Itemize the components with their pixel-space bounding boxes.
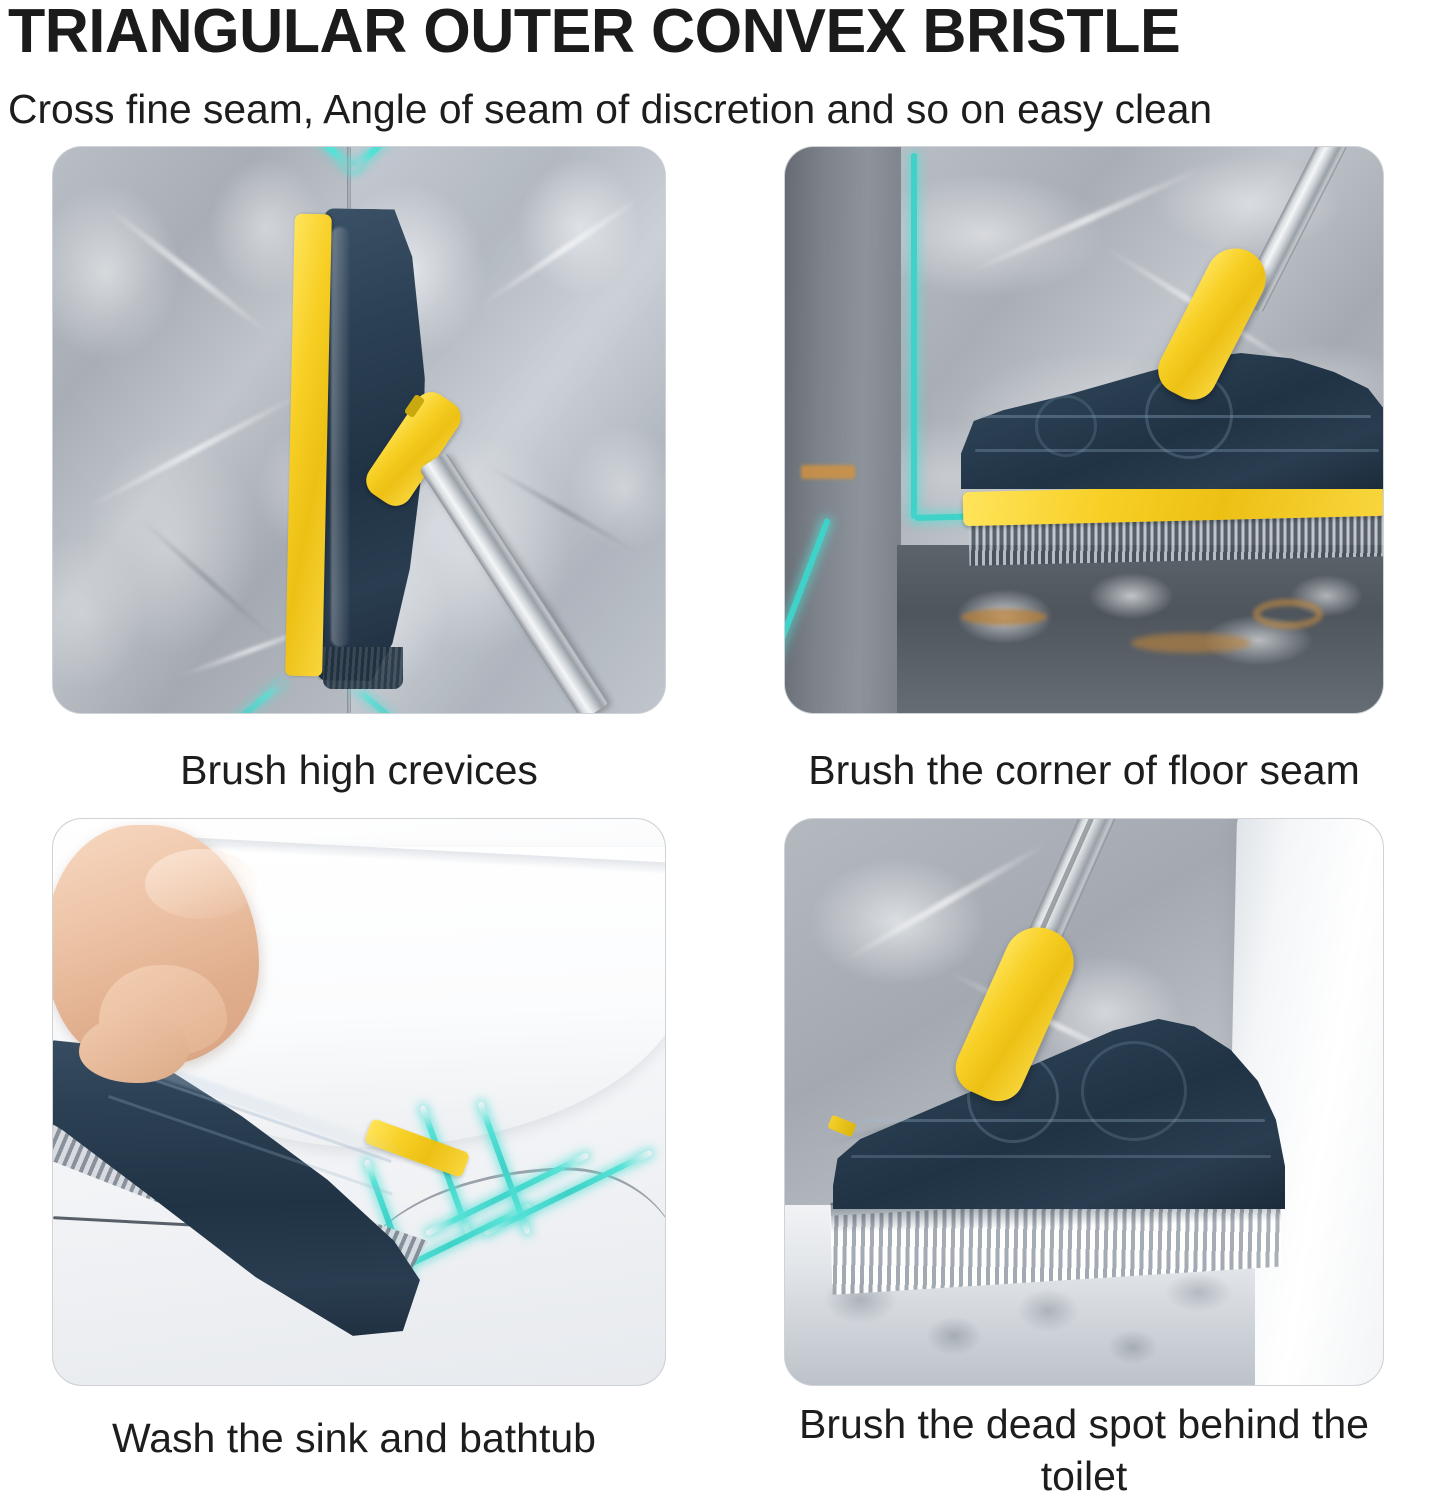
scene-dead-spot-toilet <box>785 819 1383 1385</box>
panel-brush-dead-spot-toilet <box>784 818 1384 1386</box>
brush-head-sheen <box>331 227 349 647</box>
side-wall <box>785 147 901 714</box>
caption-brush-dead-spot-toilet: Brush the dead spot behind the toilet <box>760 1398 1408 1500</box>
brush-head-rib <box>861 1119 1265 1122</box>
scene-wash-sink-bathtub <box>53 819 665 1385</box>
scene-high-crevices <box>53 147 665 713</box>
wet-floor <box>897 545 1384 714</box>
caption-wash-sink-bathtub: Wash the sink and bathtub <box>42 1412 666 1464</box>
page-title: TRIANGULAR OUTER CONVEX BRISTLE <box>8 0 1426 68</box>
hand-thumb <box>79 1015 189 1083</box>
rust-stain <box>1131 633 1251 653</box>
caption-brush-corner-floor-seam: Brush the corner of floor seam <box>744 744 1424 796</box>
panel-wash-sink-bathtub <box>52 818 666 1386</box>
page-subtitle: Cross fine seam, Angle of seam of discre… <box>8 84 1443 134</box>
rust-stain <box>801 465 855 479</box>
scene-corner-floor-seam <box>785 147 1383 713</box>
panel-brush-high-crevices <box>52 146 666 714</box>
brush-head-rib <box>851 1155 1271 1158</box>
bristle-strip <box>323 647 403 689</box>
teal-corner-line-vertical <box>911 153 917 519</box>
caption-brush-high-crevices: Brush high crevices <box>52 744 666 796</box>
hand-knuckle-highlight <box>145 849 257 919</box>
rust-stain <box>961 609 1047 625</box>
infographic-page: TRIANGULAR OUTER CONVEX BRISTLE Cross fi… <box>0 0 1450 1500</box>
brush-head-emboss <box>1081 1041 1187 1141</box>
rust-stain <box>1253 599 1323 629</box>
brush-head-emboss <box>1035 395 1097 457</box>
panel-brush-corner-floor-seam <box>784 146 1384 714</box>
